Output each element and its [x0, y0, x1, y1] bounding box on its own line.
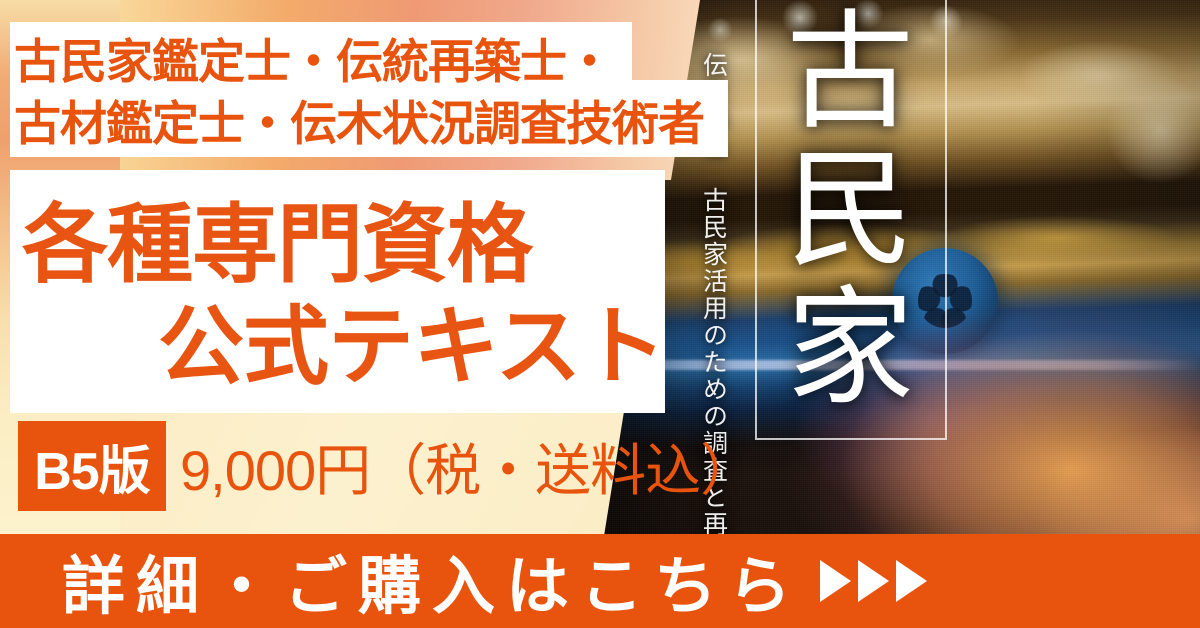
headline-line-2: 公式テキスト — [158, 288, 798, 388]
book-title-char-2: 民 — [775, 142, 925, 280]
promo-banner: 古 民 家 伝統構法 古民家活用のための調査と再生の 古民家鑑定士・伝統再築士・… — [0, 0, 1200, 628]
play-arrow-icon — [858, 560, 889, 602]
headline-line-1: 各種専門資格 — [22, 186, 662, 286]
cta-label: 詳細・ご購入はこちら — [62, 536, 802, 627]
play-arrow-icon — [820, 560, 851, 602]
qualification-line-2: 古材鑑定士・伝木状況調査技術者 — [14, 86, 744, 152]
qualification-line-1: 古民家鑑定士・伝統再築士・ — [14, 26, 734, 88]
size-badge: B5版 — [18, 421, 166, 511]
play-arrow-icon — [896, 560, 927, 602]
price-text: 9,000円（税・送料込） — [180, 421, 755, 511]
cta-arrows — [820, 560, 927, 602]
book-title-char-1: 古 — [775, 4, 925, 142]
cta-bar[interactable]: 詳細・ご購入はこちら — [0, 534, 1200, 628]
